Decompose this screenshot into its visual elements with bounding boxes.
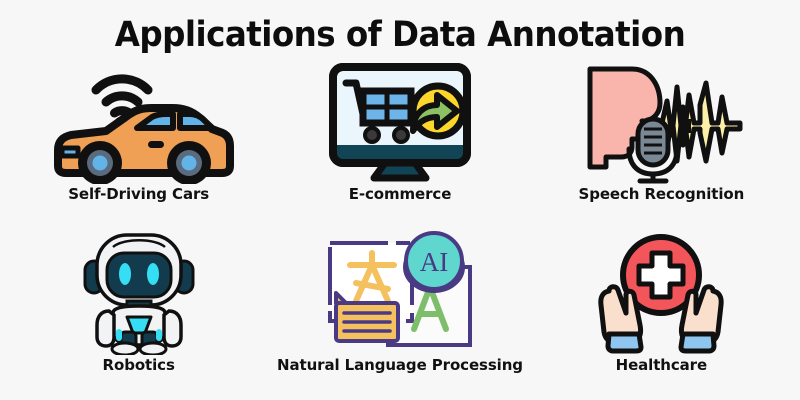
page-title: Applications of Data Annotation — [28, 0, 772, 61]
application-cell-self-driving-cars[interactable]: Self-Driving Cars — [8, 61, 269, 228]
speech-recognition-icon — [576, 61, 746, 185]
icon-container — [44, 61, 234, 185]
ai-badge-text: AI — [420, 247, 449, 277]
healthcare-hands-cross-icon — [595, 229, 727, 355]
robot-icon — [79, 229, 199, 355]
application-cell-speech-recognition[interactable]: Speech Recognition — [531, 61, 792, 228]
application-cell-healthcare[interactable]: Healthcare — [531, 228, 792, 395]
application-label: Robotics — [103, 356, 175, 374]
application-label: Natural Language Processing — [277, 356, 523, 374]
applications-grid: Self-Driving Cars — [0, 61, 800, 400]
application-cell-ecommerce[interactable]: E-commerce — [269, 61, 530, 228]
self-driving-car-icon — [44, 62, 234, 184]
application-label: E-commerce — [349, 185, 452, 203]
infographic-canvas: Applications of Data Annotation — [0, 0, 800, 400]
application-cell-nlp[interactable]: AI Natural Language Processing — [269, 228, 530, 395]
application-label: Self-Driving Cars — [68, 185, 209, 203]
application-label: Healthcare — [616, 356, 707, 374]
application-cell-robotics[interactable]: Robotics — [8, 228, 269, 395]
icon-container — [576, 61, 746, 185]
icon-container: AI — [310, 228, 490, 356]
application-label: Speech Recognition — [579, 185, 745, 203]
nlp-translate-icon: AI — [310, 229, 490, 355]
icon-container — [325, 61, 475, 185]
ecommerce-monitor-icon — [325, 61, 475, 185]
icon-container — [79, 228, 199, 356]
icon-container — [595, 228, 727, 356]
